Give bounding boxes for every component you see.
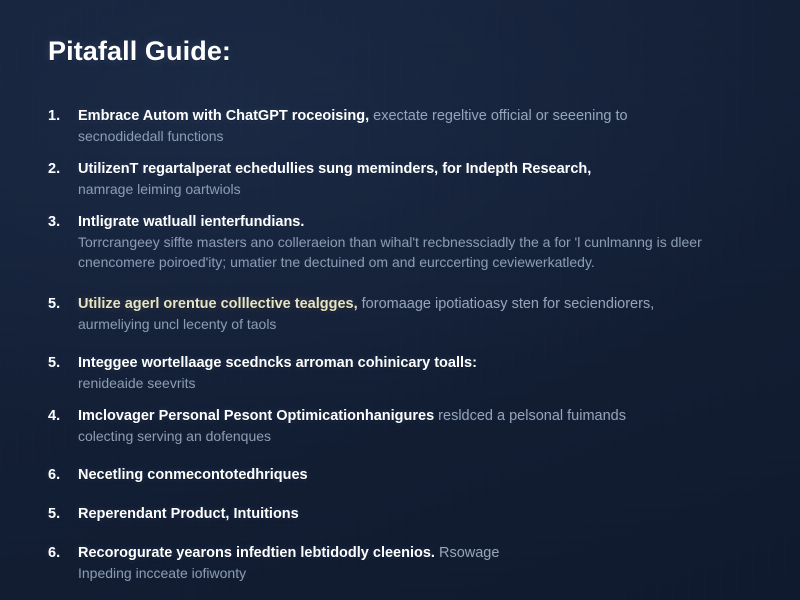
list-item-body: Imclovager Personal Pesont Optimicationh… — [78, 406, 718, 446]
guide-list: 1.Embrace Autom with ChatGPT roceoising,… — [48, 106, 748, 596]
page-title: Pitafall Guide: — [48, 36, 231, 67]
list-item-body: Intligrate watluall ienterfundians.Torrc… — [78, 212, 718, 272]
list-item-lead: Recorogurate yearons infedtien lebtidodl… — [78, 545, 435, 561]
list-item-marker: 2. — [48, 159, 78, 179]
list-item-lead: Necetling conmecontotedhriques — [78, 467, 308, 483]
list-item-marker: 6. — [48, 465, 78, 485]
list-item-marker: 5. — [48, 294, 78, 314]
list-item-marker: 5. — [48, 504, 78, 524]
list-item-body: UtilizenT regartalperat echedullies sung… — [78, 159, 718, 199]
list-item[interactable]: 5.Integgee wortellaage scedncks arroman … — [48, 353, 748, 393]
list-item-lead: Imclovager Personal Pesont Optimicationh… — [78, 408, 434, 424]
list-item-lead: Integgee wortellaage scedncks arroman co… — [78, 355, 477, 371]
list-item[interactable]: 4.Imclovager Personal Pesont Optimicatio… — [48, 406, 748, 446]
list-item-lead: Intligrate watluall ienterfundians. — [78, 214, 304, 230]
list-item-body: Integgee wortellaage scedncks arroman co… — [78, 353, 718, 393]
list-item-subtext: renideaide seevrits — [78, 373, 718, 393]
list-item-body: Necetling conmecontotedhriques — [78, 465, 718, 485]
list-item-marker: 4. — [48, 406, 78, 426]
list-item-subtext: Inpeding incceate iofiwonty — [78, 563, 718, 583]
list-item-subtext: Torrcrangeey siffte masters ano collerae… — [78, 232, 718, 272]
list-item-lead: Utilize agerl orentue colllective tealgg… — [78, 296, 358, 312]
list-item[interactable]: 5.Utilize agerl orentue colllective teal… — [48, 294, 748, 334]
list-item[interactable]: 1.Embrace Autom with ChatGPT roceoising,… — [48, 106, 748, 146]
list-item[interactable]: 6.Necetling conmecontotedhriques — [48, 465, 748, 485]
list-item-tail: exectate regeltive official or seeening … — [369, 108, 627, 124]
list-item-body: Embrace Autom with ChatGPT roceoising, e… — [78, 106, 718, 146]
list-item-subtext: aurmeliying uncl lecenty of taols — [78, 314, 718, 334]
list-item[interactable]: 6.Recorogurate yearons infedtien lebtido… — [48, 543, 748, 583]
list-item-lead: Embrace Autom with ChatGPT roceoising, — [78, 108, 369, 124]
list-item-subtext: namrage leiming oartwiols — [78, 179, 718, 199]
list-item-subtext: colecting serving an dofenques — [78, 426, 718, 446]
list-item-body: Utilize agerl orentue colllective tealgg… — [78, 294, 718, 334]
list-item-tail: foromaage ipotiatioasy sten for seciendi… — [358, 296, 655, 312]
list-item-marker: 1. — [48, 106, 78, 126]
list-item-marker: 5. — [48, 353, 78, 373]
list-item-tail: resldced a pelsonal fuimands — [434, 408, 626, 424]
list-item-lead: Reperendant Product, Intuitions — [78, 506, 299, 522]
slide-canvas: Pitafall Guide: 1.Embrace Autom with Cha… — [0, 0, 800, 600]
list-item[interactable]: 3.Intligrate watluall ienterfundians.Tor… — [48, 212, 748, 272]
list-item-body: Reperendant Product, Intuitions — [78, 504, 718, 524]
list-item-marker: 3. — [48, 212, 78, 232]
list-item-lead: UtilizenT regartalperat echedullies sung… — [78, 161, 591, 177]
list-item[interactable]: 5.Reperendant Product, Intuitions — [48, 504, 748, 524]
list-item[interactable]: 2.UtilizenT regartalperat echedullies su… — [48, 159, 748, 199]
list-item-marker: 6. — [48, 543, 78, 563]
list-item-subtext: secnodidedall functions — [78, 126, 718, 146]
list-item-tail: Rsowage — [435, 545, 499, 561]
list-item-body: Recorogurate yearons infedtien lebtidodl… — [78, 543, 718, 583]
